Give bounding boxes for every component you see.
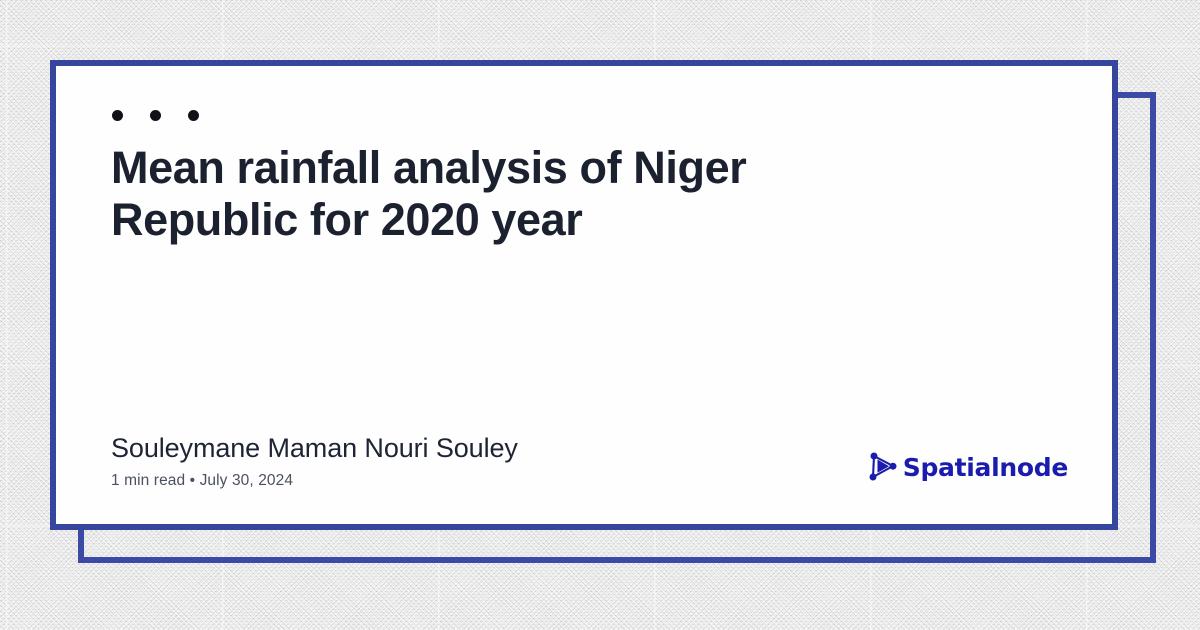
three-dots-decoration (112, 110, 1068, 121)
brand-name: Spatialnode (903, 453, 1068, 482)
brand-logo[interactable]: Spatialnode (866, 450, 1068, 494)
byline: Souleymane Maman Nouri Souley 1 min read… (111, 432, 518, 494)
card-footer: Souleymane Maman Nouri Souley 1 min read… (111, 432, 1068, 494)
author-name: Souleymane Maman Nouri Souley (111, 432, 518, 464)
dot-icon (150, 110, 161, 121)
article-cover-card: Mean rainfall analysis of Niger Republic… (50, 60, 1118, 530)
article-meta: 1 min read • July 30, 2024 (111, 472, 518, 490)
page-title: Mean rainfall analysis of Niger Republic… (111, 142, 911, 246)
spatialnode-network-mark-icon (866, 450, 900, 484)
dot-icon (112, 110, 123, 121)
dot-icon (188, 110, 199, 121)
